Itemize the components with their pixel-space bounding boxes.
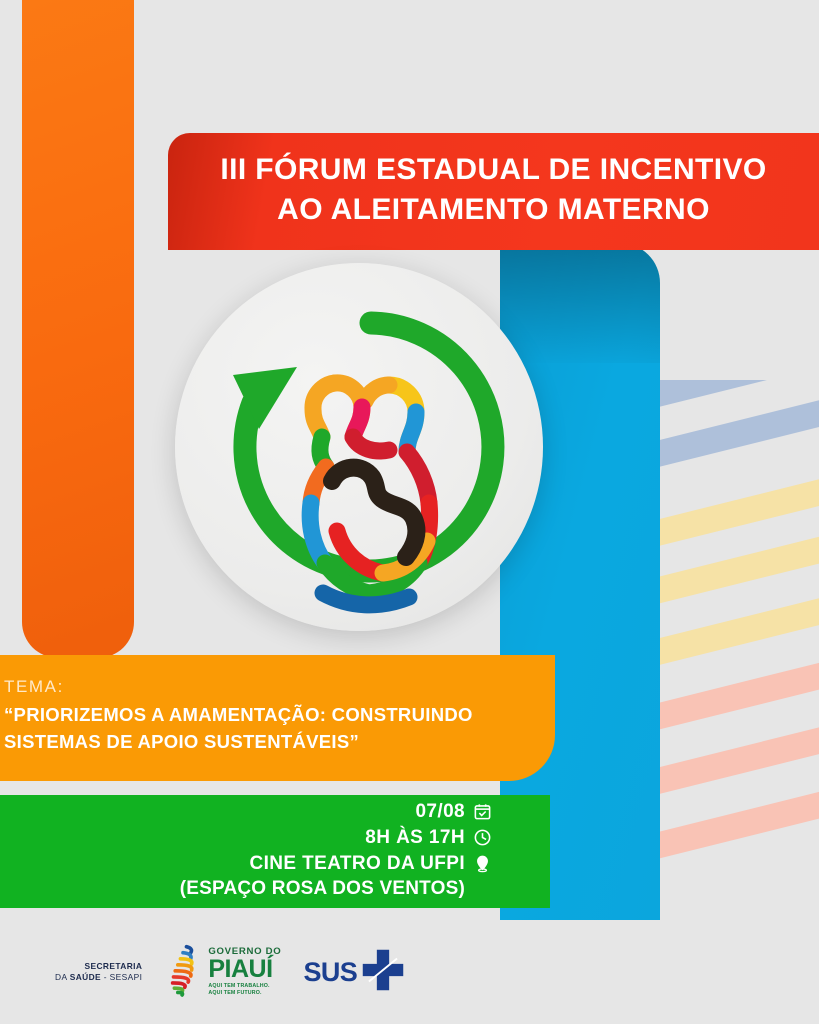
clock-icon: [473, 828, 492, 847]
theme-label: TEMA:: [4, 677, 555, 697]
event-venue-row: CINE TEATRO DA UFPI: [0, 851, 492, 877]
breastfeeding-sustainability-emblem: [175, 263, 543, 631]
event-venue: CINE TEATRO DA UFPI: [249, 851, 465, 877]
event-info-band: 07/08 8H ÀS 17H CINE TEAT: [0, 795, 550, 908]
poster-canvas: III FÓRUM ESTADUAL DE INCENTIVO AO ALEIT…: [0, 0, 819, 1024]
piaui-map-glyph: [164, 943, 202, 997]
theme-quote-line-2: SISTEMAS DE APOIO SUSTENTÁVEIS”: [4, 729, 499, 756]
event-venue-detail-row: (ESPAÇO ROSA DOS VENTOS): [0, 876, 492, 902]
theme-quote-line-1: “PRIORIZEMOS A AMAMENTAÇÃO: CONSTRUINDO: [4, 702, 499, 729]
sus-wordmark: SUS: [303, 959, 357, 986]
theme-band: TEMA: “PRIORIZEMOS A AMAMENTAÇÃO: CONSTR…: [0, 655, 555, 781]
calendar-icon: [473, 802, 492, 821]
event-date-row: 07/08: [0, 799, 492, 825]
logo-sus: SUS: [303, 948, 405, 997]
sus-cross-icon: [361, 948, 405, 997]
title-banner: III FÓRUM ESTADUAL DE INCENTIVO AO ALEIT…: [168, 133, 819, 250]
logo-sesapi: SECRETARIA DA SAÚDE - SESAPI: [55, 961, 142, 984]
event-date: 07/08: [415, 799, 465, 825]
event-time-row: 8H ÀS 17H: [0, 825, 492, 851]
sesapi-prefix: DA: [55, 972, 70, 982]
emblem-graphic: [175, 263, 543, 631]
event-time: 8H ÀS 17H: [365, 825, 465, 851]
piaui-tagline-line-2: AQUI TEM FUTURO.: [208, 990, 261, 996]
piaui-name-label: PIAUÍ: [208, 958, 281, 981]
piaui-wordmark: GOVERNO DO PIAUÍ AQUI TEM TRABALHO.AQUI …: [208, 947, 281, 997]
left-orange-bar: [22, 0, 134, 658]
page-title-line-2: AO ALEITAMENTO MATERNO: [277, 190, 710, 230]
piaui-tagline: AQUI TEM TRABALHO.AQUI TEM FUTURO.: [208, 983, 281, 997]
sesapi-bold: SAÚDE: [70, 972, 101, 982]
event-venue-detail: (ESPAÇO ROSA DOS VENTOS): [180, 876, 465, 902]
sesapi-line-1: SECRETARIA: [55, 961, 142, 972]
page-title-line-1: III FÓRUM ESTADUAL DE INCENTIVO: [220, 150, 766, 190]
piaui-map-icon: [164, 943, 202, 1002]
sesapi-suffix: - SESAPI: [101, 972, 142, 982]
piaui-tagline-line-1: AQUI TEM TRABALHO.: [208, 983, 269, 989]
location-pin-icon: [473, 854, 492, 873]
footer-logo-strip: SECRETARIA DA SAÚDE - SESAPI: [0, 920, 819, 1024]
logo-governo-do-piaui: GOVERNO DO PIAUÍ AQUI TEM TRABALHO.AQUI …: [164, 943, 281, 1002]
blue-cross-glyph: [361, 948, 405, 992]
sesapi-line-2: DA SAÚDE - SESAPI: [55, 972, 142, 983]
